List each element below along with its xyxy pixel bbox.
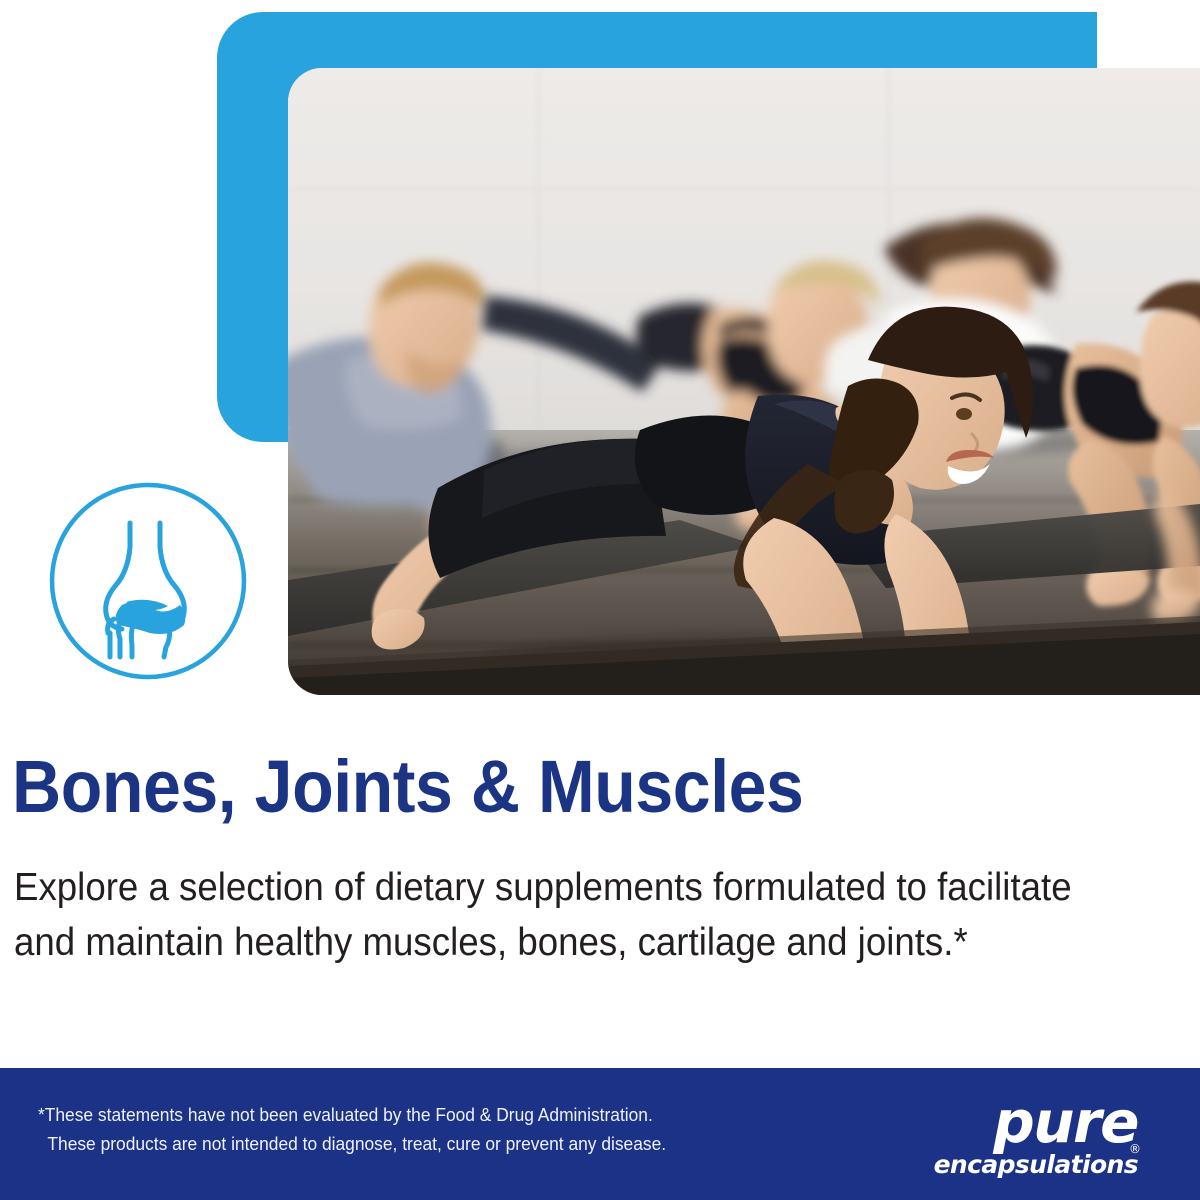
brand-wordmark-pure: pure <box>928 1088 1138 1150</box>
knee-joint-icon <box>48 481 248 681</box>
footer-bar: *These statements have not been evaluate… <box>0 1068 1200 1200</box>
page-subtitle: Explore a selection of dietary supplemen… <box>14 860 1076 970</box>
brand-sub-wrap: encapsulations® <box>928 1150 1138 1184</box>
fda-disclaimer-line-2: These products are not intended to diagn… <box>38 1129 752 1158</box>
registered-trademark-icon: ® <box>1129 1134 1141 1164</box>
hero-photo-illustration <box>288 68 1200 695</box>
pure-encapsulations-logo[interactable]: pure encapsulations® <box>928 1088 1138 1180</box>
fda-disclaimer-line-1: *These statements have not been evaluate… <box>38 1104 653 1125</box>
product-category-banner: Bones, Joints & Muscles Explore a select… <box>0 0 1200 1200</box>
page-title: Bones, Joints & Muscles <box>12 748 803 826</box>
content-block: Bones, Joints & Muscles Explore a select… <box>0 700 1200 1068</box>
knee-joint-icon-svg <box>48 481 248 681</box>
hero-photo <box>288 68 1200 695</box>
fda-disclaimer: *These statements have not been evaluate… <box>38 1100 752 1158</box>
brand-wordmark-encapsulations: encapsulations <box>934 1150 1138 1179</box>
